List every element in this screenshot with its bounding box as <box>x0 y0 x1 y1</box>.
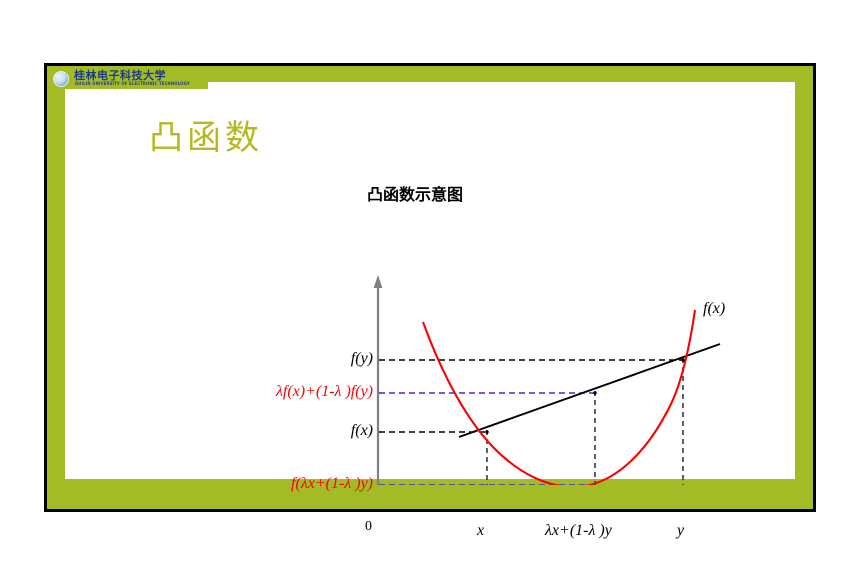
convex-function-figure: 凸函数示意图 <box>65 82 801 485</box>
point-y-fy <box>681 358 684 361</box>
origin-label: 0 <box>365 518 372 536</box>
convex-curve <box>423 310 695 485</box>
x-label-x: x <box>477 522 484 540</box>
presentation-slide: 凸函数 凸函数示意图 <box>44 63 816 512</box>
point-x-fx <box>485 430 488 433</box>
university-name: 桂林电子科技大学 GUILIN UNIVERSITY OF ELECTRONIC… <box>74 69 206 89</box>
convex-function-plot <box>65 82 801 485</box>
university-name-en: GUILIN UNIVERSITY OF ELECTRONIC TECHNOLO… <box>75 81 190 86</box>
point-combo <box>593 391 596 394</box>
y-axis <box>374 275 383 485</box>
slide-stage: 凸函数 凸函数示意图 <box>0 0 862 565</box>
x-label-combo: λx+(1-λ )y <box>545 522 612 540</box>
slide-olive-frame: 凸函数 凸函数示意图 <box>47 66 813 509</box>
chord-line <box>459 344 720 437</box>
x-label-y: y <box>677 522 684 540</box>
university-header-bar: 桂林电子科技大学 GUILIN UNIVERSITY OF ELECTRONIC… <box>50 69 208 89</box>
y-label-lambda-combo: λf(x)+(1-λ )f(y) <box>195 383 373 401</box>
curve-label-fx: f(x) <box>703 300 725 318</box>
y-label-fx: f(x) <box>215 422 373 440</box>
y-label-fy: f(y) <box>215 350 373 368</box>
slide-content-area: 凸函数 凸函数示意图 <box>65 82 795 479</box>
university-crest-icon <box>53 71 69 87</box>
y-label-f-of-combo: f(λx+(1-λ )y) <box>195 475 373 493</box>
